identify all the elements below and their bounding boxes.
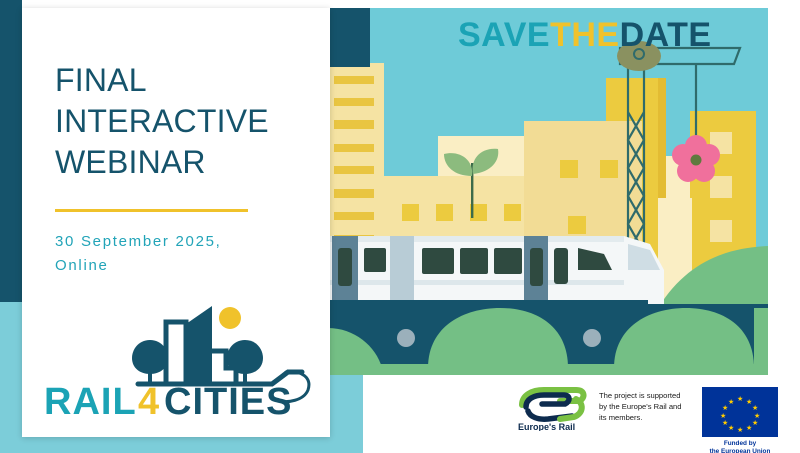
eu-caption-line-1: Funded by [698, 440, 782, 448]
title-line-1: FINAL [55, 60, 305, 101]
logo-4: 4 [138, 381, 160, 420]
event-subtitle: 30 September 2025, Online [55, 230, 305, 279]
stone-viaduct [328, 304, 768, 375]
cyan-corner-notch [330, 375, 363, 453]
title-line-2: INTERACTIVE [55, 101, 305, 142]
illustration-navy-cap [328, 8, 370, 67]
eu-caption-line-2: the European Union [698, 448, 782, 453]
left-edge-strip-cyan [0, 302, 22, 453]
bottom-cyan-band [0, 437, 363, 453]
title-line-3: WEBINAR [55, 142, 305, 183]
event-location: Online [55, 254, 305, 278]
eu-funding-caption: Funded by the European Union [698, 440, 782, 453]
banner-date: DATE [620, 16, 712, 54]
info-card-content: FINAL INTERACTIVE WEBINAR 30 September 2… [55, 60, 305, 278]
logo-rail: RAIL [44, 381, 137, 420]
europes-rail-logo: Europe's Rail [516, 383, 590, 431]
title-divider [55, 209, 248, 212]
rail4cities-logo: RAIL 4 CITIES [40, 296, 315, 420]
save-the-date-banner: SAVETHEDATE [458, 18, 712, 52]
logo-wordmark: RAIL 4 CITIES [44, 381, 292, 420]
funding-footer: Europe's Rail The project is supported b… [516, 383, 788, 445]
europes-rail-name: Europe's Rail [518, 422, 575, 431]
page-title: FINAL INTERACTIVE WEBINAR [55, 60, 305, 183]
save-the-date-poster: SAVETHEDATE FINAL INTERACTIVE WEBINAR 30… [0, 0, 800, 453]
europes-rail-mark [522, 390, 583, 419]
city-illustration [328, 8, 768, 375]
passenger-train [328, 236, 664, 308]
banner-save: SAVE [458, 16, 550, 54]
logo-cities: CITIES [164, 381, 292, 420]
banner-the: THE [550, 16, 620, 54]
eu-funding-block: ★ ★ ★ ★ ★ ★ ★ ★ ★ ★ ★ ★ Funded by the Eu… [698, 383, 782, 453]
left-edge-strip-dark [0, 0, 22, 302]
sun-icon [219, 307, 241, 329]
support-statement: The project is supported by the Europe's… [599, 383, 689, 423]
event-date: 30 September 2025, [55, 230, 305, 254]
eu-flag-icon: ★ ★ ★ ★ ★ ★ ★ ★ ★ ★ ★ ★ [702, 387, 778, 437]
